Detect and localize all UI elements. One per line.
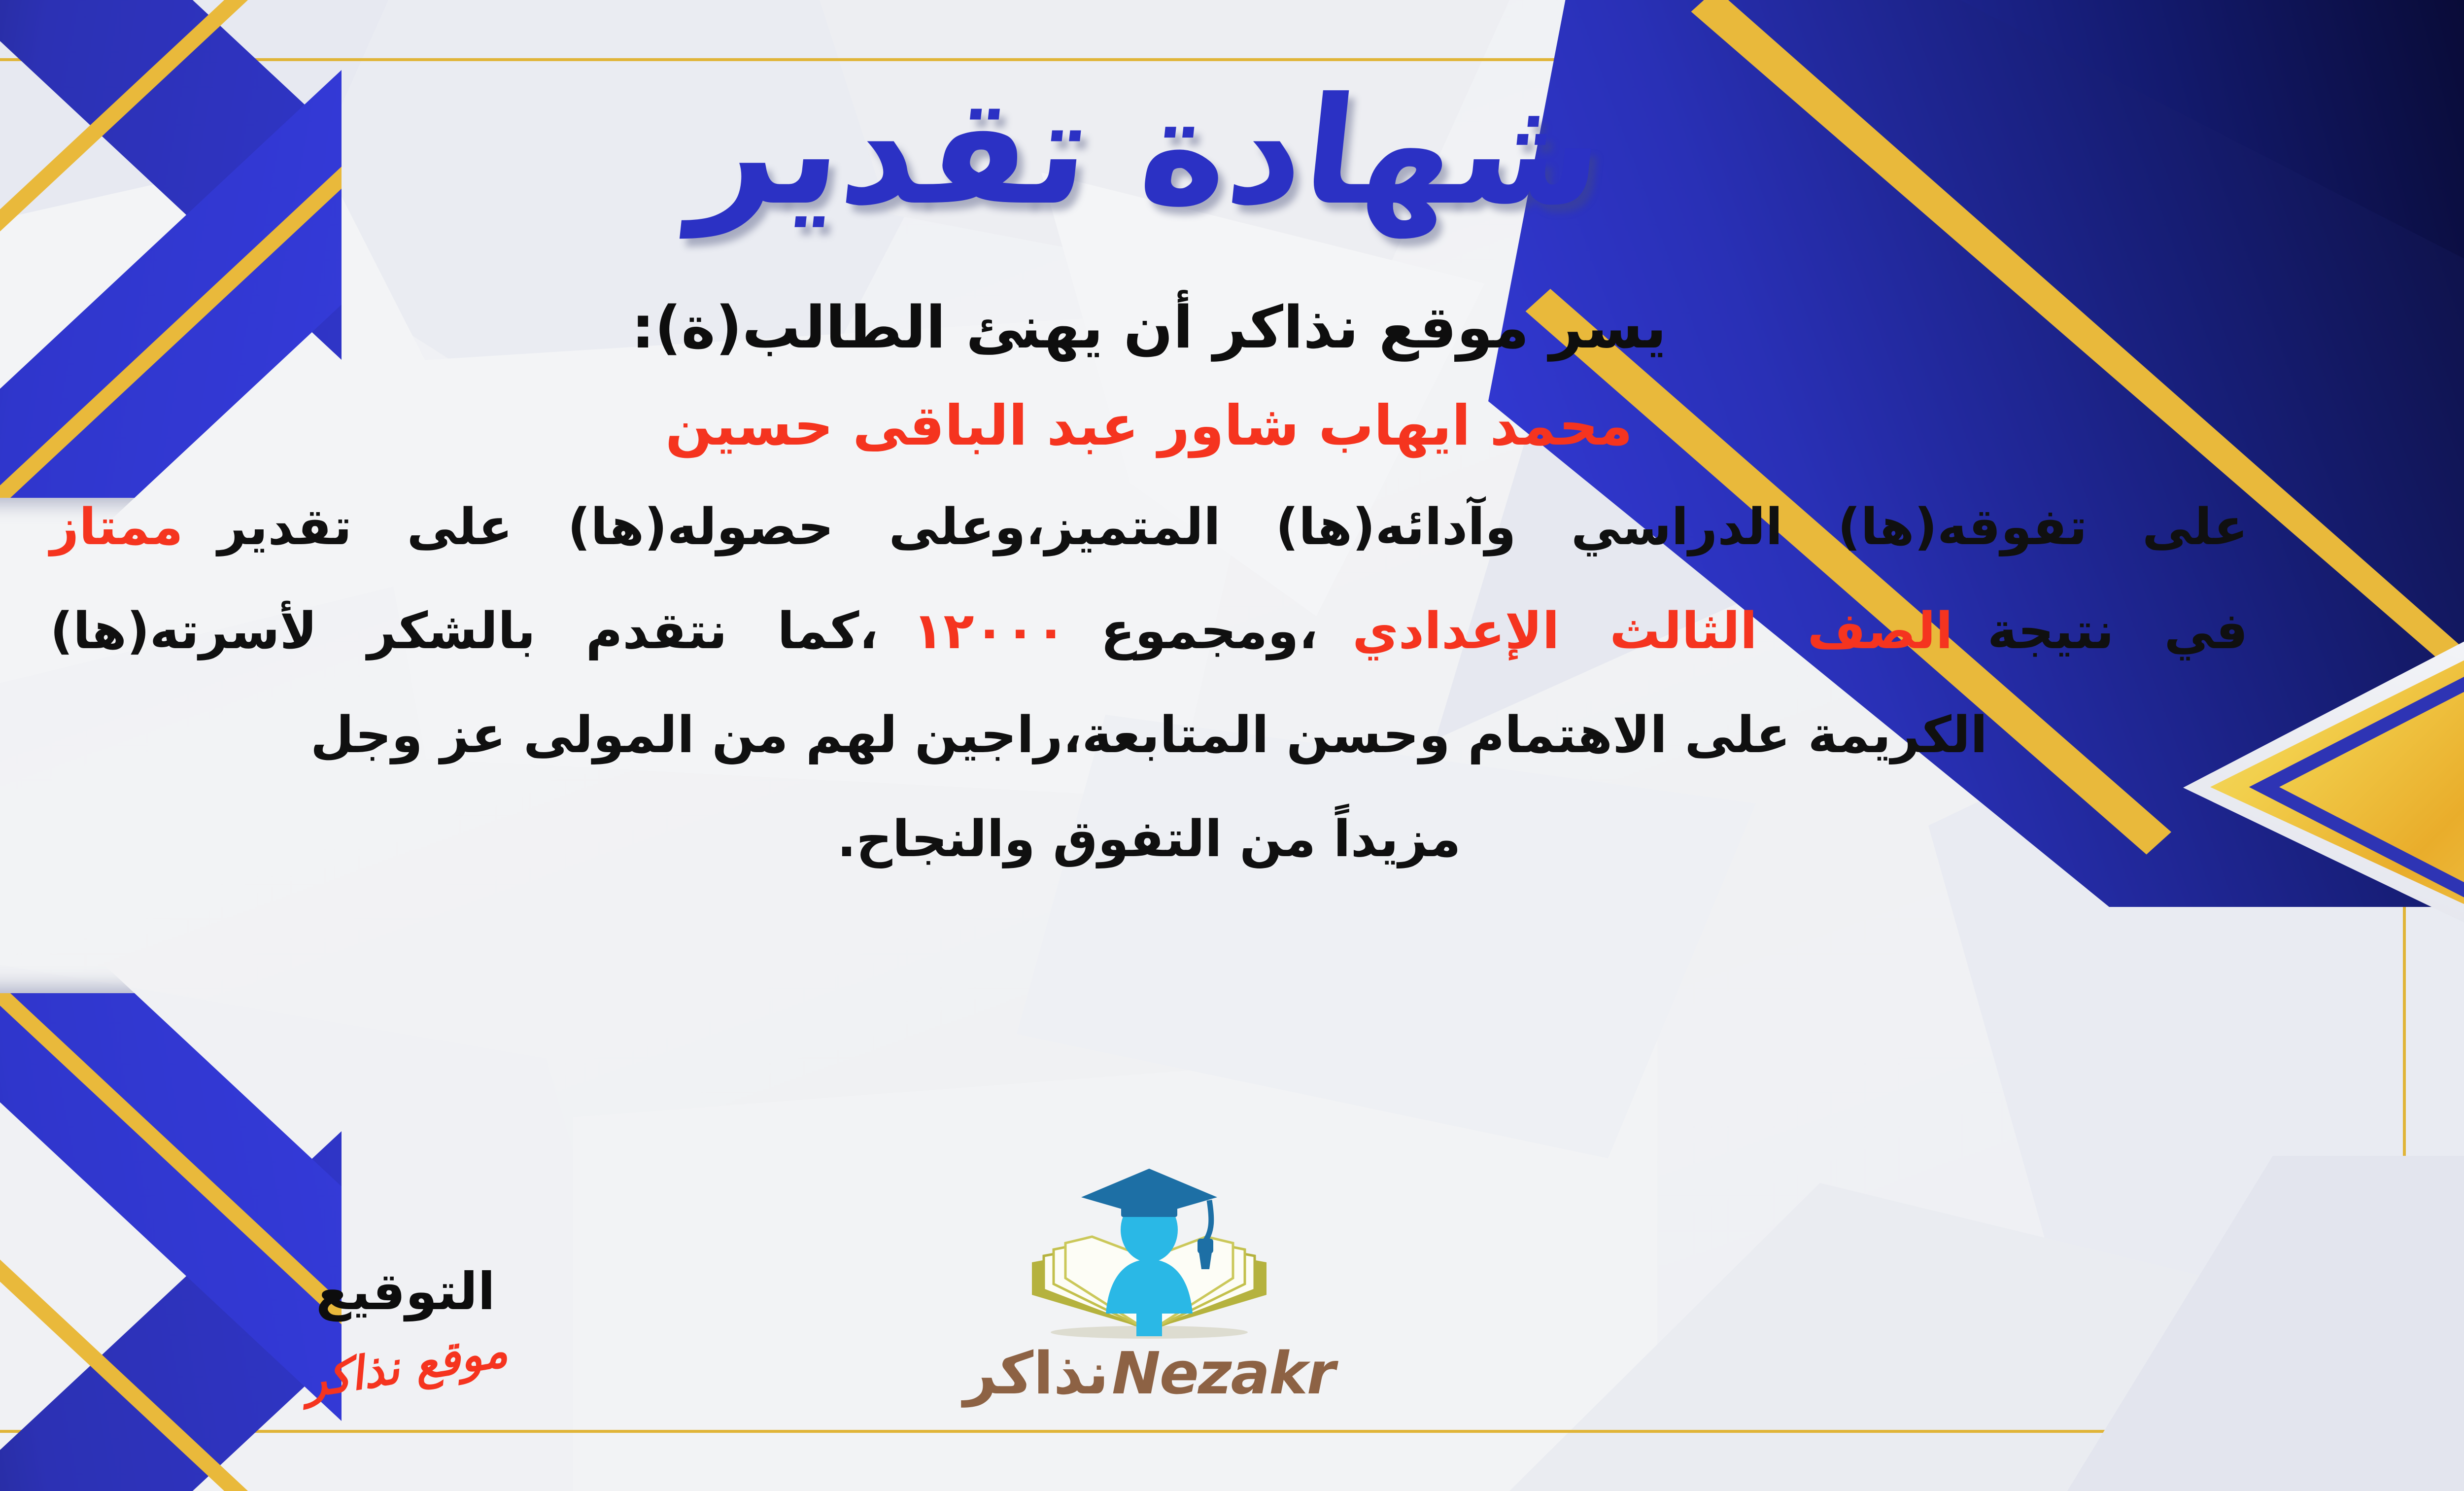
certificate-footer: التوقيع موقع نذاكر: [0, 1107, 2464, 1412]
certificate-page: شهادة تقدير يسر موقع نذاكر أن يهنئ الطال…: [0, 0, 2464, 1491]
achievement-paragraph-line-3: الكريمة على الاهتمام وحسن المتابعة،راجين…: [0, 696, 2307, 774]
certificate-body: يسر موقع نذاكر أن يهنئ الطالب(ة): محمد ا…: [0, 288, 2307, 878]
signature-block: التوقيع موقع نذاكر: [218, 1261, 593, 1392]
achievement-paragraph-line-2: في نتيجةالصف الثالث الإعدادي،ومجموع١٢٠٠٠…: [0, 592, 2307, 670]
class-level-value: الصف الثالث الإعدادي: [1352, 602, 1953, 660]
certificate-title: شهادة تقدير: [687, 74, 1611, 229]
achievement-paragraph-line-4: مزيداً من التفوق والنجاح.: [0, 800, 2307, 878]
thanks-prefix-text: ،كما نتقدم بالشكر لأسرته(ها): [50, 602, 879, 660]
signature-script: موقع نذاكر: [300, 1323, 511, 1408]
brand-name-latin: Nezakr: [1112, 1339, 1335, 1407]
achievement-paragraph-line-1: على تفوقه(ها) الدراسي وآدائه(ها) المتميز…: [0, 488, 2307, 566]
graduate-open-book-icon: [996, 1166, 1302, 1348]
student-name: محمد ايهاب شاور عبد الباقى حسين: [0, 390, 2307, 462]
grade-value: ممتاز: [50, 498, 183, 556]
achievement-text: على تفوقه(ها) الدراسي وآدائه(ها) المتميز…: [218, 498, 2248, 556]
total-score-value: ١٢٠٠٠: [913, 602, 1066, 660]
signature-label: التوقيع: [218, 1261, 593, 1321]
result-prefix-text: في نتيجة: [1987, 602, 2248, 660]
greeting-line: يسر موقع نذاكر أن يهنئ الطالب(ة):: [0, 288, 2307, 367]
brand-logo-block: Nezakrنذاكر: [927, 1166, 1371, 1407]
total-label-text: ،ومجموع: [1100, 602, 1318, 660]
brand-wordmark: Nezakrنذاكر: [927, 1339, 1371, 1407]
brand-name-arabic: نذاكر: [963, 1339, 1109, 1407]
